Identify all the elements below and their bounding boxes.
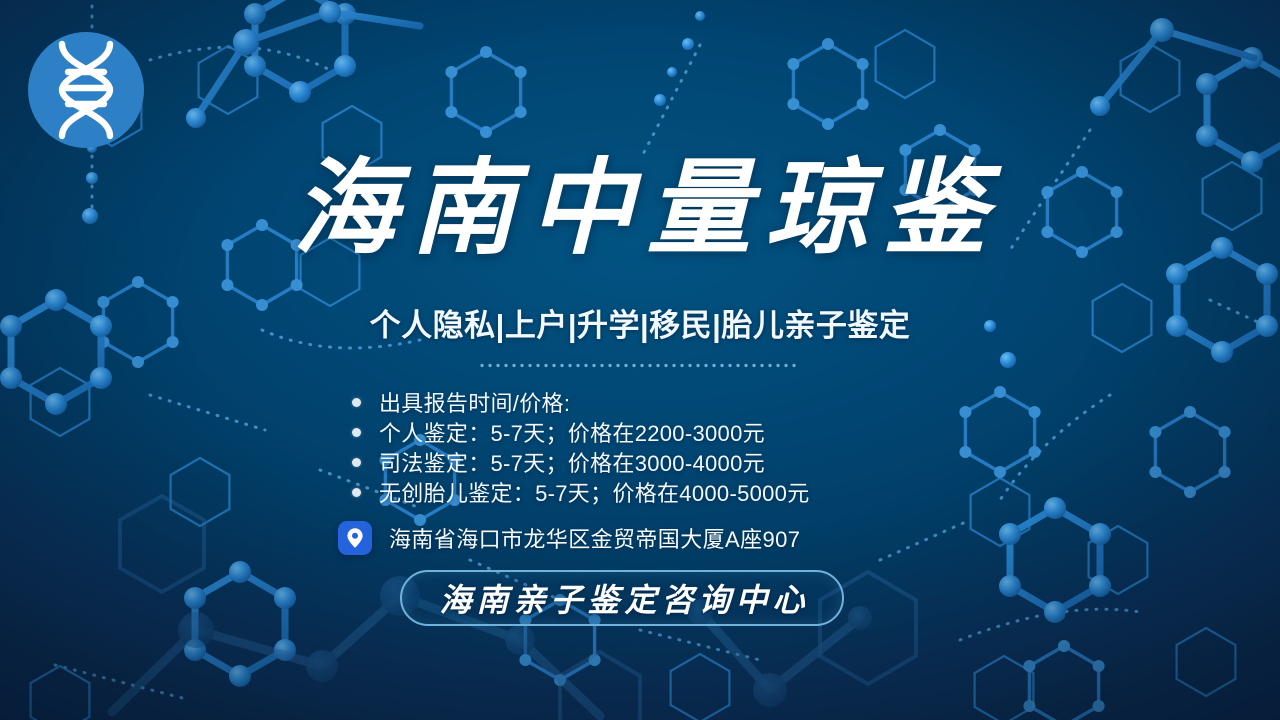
list-item-label: 无创胎儿鉴定：5-7天；价格在4000-5000元: [379, 476, 810, 508]
bullet-dot-icon: [352, 398, 361, 407]
map-pin-icon: [338, 521, 372, 555]
service-info-list: 出具报告时间/价格: 个人鉴定：5-7天；价格在2200-3000元 司法鉴定：…: [352, 388, 972, 508]
poster-canvas: 海南中量琼鉴 个人隐私|上户|升学|移民|胎儿亲子鉴定 出具报告时间/价格: 个…: [0, 0, 1280, 720]
address-label: 海南省海口市龙华区金贸帝国大厦A座907: [389, 522, 800, 554]
address-row: 海南省海口市龙华区金贸帝国大厦A座907: [338, 521, 800, 555]
page-subtitle: 个人隐私|上户|升学|移民|胎儿亲子鉴定: [0, 300, 1280, 345]
page-title: 海南中量琼鉴: [0, 152, 1280, 264]
list-item-label: 个人鉴定：5-7天；价格在2200-3000元: [379, 416, 765, 448]
consultation-center-button-label: 海南亲子鉴定咨询中心: [434, 575, 809, 621]
dna-helix-icon: [40, 40, 132, 140]
list-item: 无创胎儿鉴定：5-7天；价格在4000-5000元: [352, 478, 972, 506]
bullet-dot-icon: [352, 428, 361, 437]
company-logo: [28, 32, 144, 148]
consultation-center-button[interactable]: 海南亲子鉴定咨询中心: [400, 570, 844, 626]
bullet-dot-icon: [352, 458, 361, 467]
bullet-dot-icon: [352, 488, 361, 497]
list-item: 出具报告时间/价格:: [352, 388, 972, 416]
list-item-label: 司法鉴定：5-7天；价格在3000-4000元: [379, 446, 765, 478]
list-item-label: 出具报告时间/价格:: [379, 386, 570, 418]
list-item: 司法鉴定：5-7天；价格在3000-4000元: [352, 448, 972, 476]
list-item: 个人鉴定：5-7天；价格在2200-3000元: [352, 418, 972, 446]
divider: [478, 363, 796, 368]
